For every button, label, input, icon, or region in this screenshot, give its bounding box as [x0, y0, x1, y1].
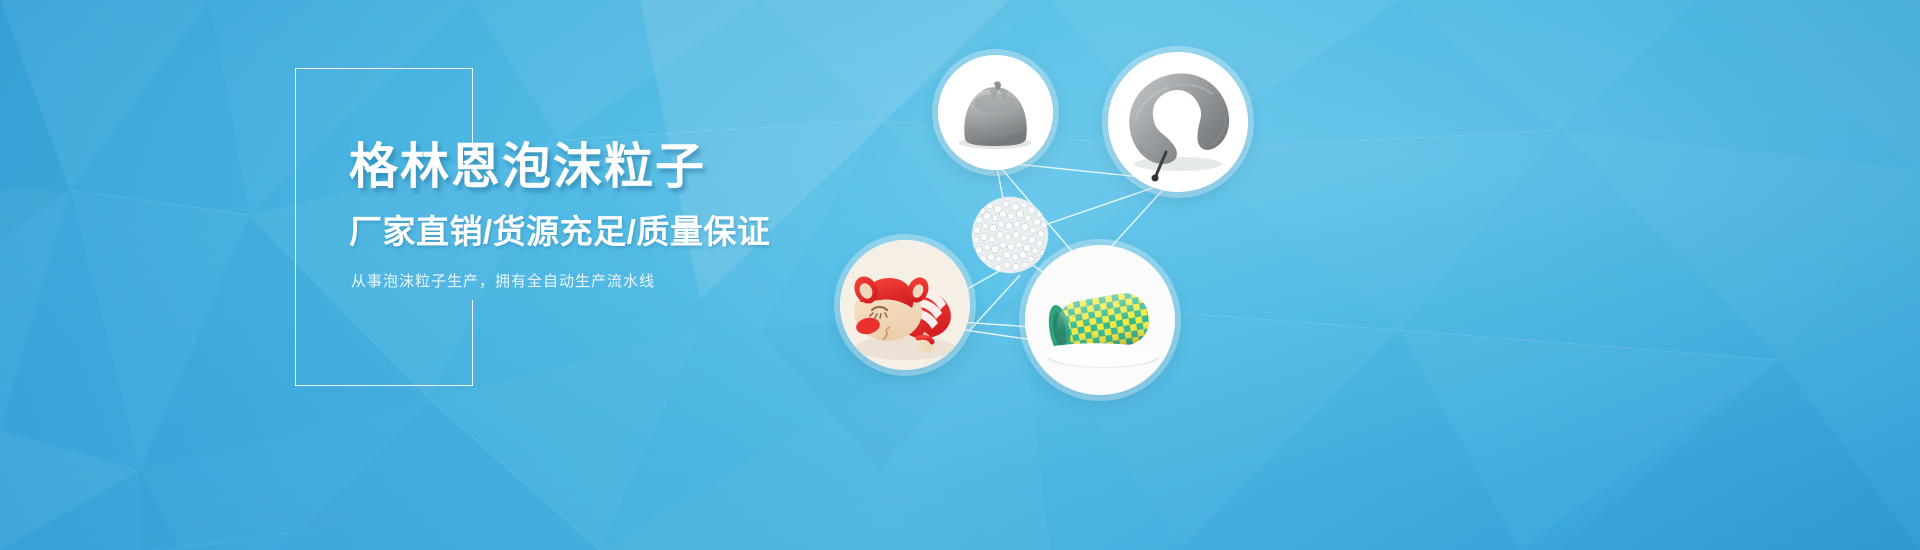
- product-bubble-neck-pillow[interactable]: [1108, 52, 1248, 192]
- product-bubble-plush-toy[interactable]: [840, 240, 970, 370]
- bean-bag-chair-icon: [938, 55, 1053, 170]
- product-cluster: [820, 30, 1300, 430]
- plush-monkey-toy-icon: [840, 240, 970, 370]
- promo-banner: 格林恩泡沫粒子 厂家直销/货源充足/质量保证 从事泡沫粒子生产，拥有全自动生产流…: [0, 0, 1920, 550]
- neck-pillow-icon: [1108, 52, 1248, 192]
- foam-beads-icon: [970, 195, 1050, 275]
- product-bubble-bolster-pillow[interactable]: [1025, 245, 1175, 395]
- product-bubble-beanbag[interactable]: [938, 55, 1053, 170]
- striped-bolster-pillow-icon: [1025, 245, 1175, 395]
